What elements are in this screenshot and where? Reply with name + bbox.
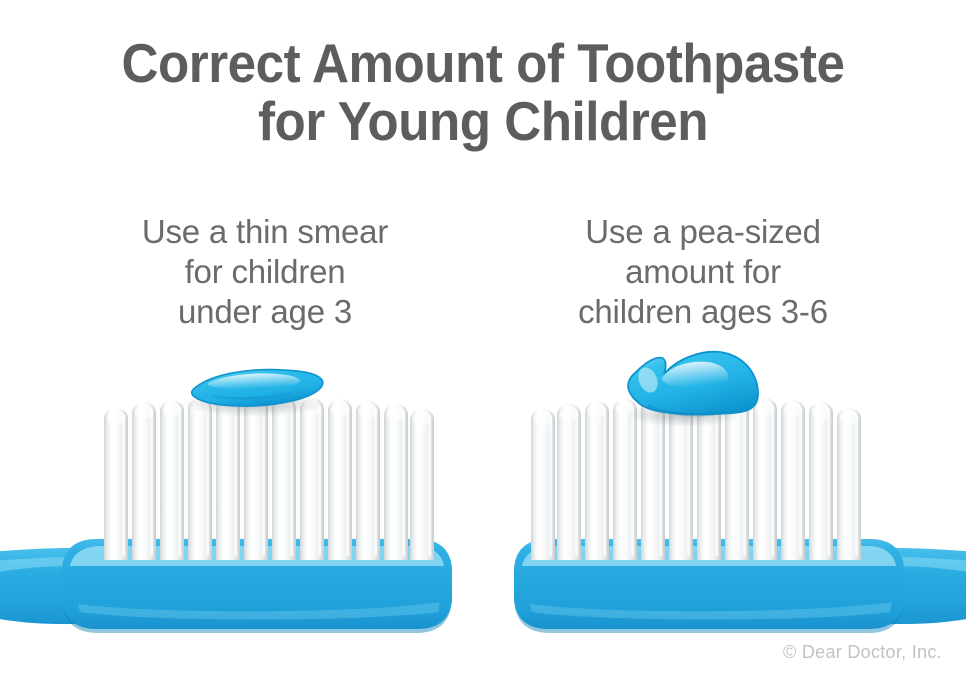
page-title: Correct Amount of Toothpaste for Young C… <box>34 34 932 150</box>
toothbrush-head-left <box>62 539 452 629</box>
copyright-notice: © Dear Doctor, Inc. <box>783 642 942 663</box>
toothpaste-smear-left <box>192 370 323 407</box>
head-sheen-left <box>78 602 440 620</box>
toothbrush-handle-right <box>666 548 966 624</box>
infographic-root: Correct Amount of Toothpaste for Young C… <box>0 0 966 685</box>
caption-ages-3-to-6: Use a pea-sized amount for children ages… <box>488 212 918 332</box>
head-highlight-right <box>522 546 896 566</box>
toothpaste-pea-right <box>628 352 758 417</box>
toothbrush-handle-left <box>0 548 300 624</box>
toothbrush-right <box>514 352 966 633</box>
head-shade-left <box>62 601 452 633</box>
toothpaste-shadow-left <box>181 391 325 417</box>
toothbrush-head-right <box>514 539 904 629</box>
handle-highlight-right <box>706 557 966 582</box>
toothbrush-left <box>0 370 452 633</box>
toothpaste-shadow-right <box>626 401 742 427</box>
handle-highlight-left <box>0 557 260 582</box>
head-shade-right <box>514 601 904 633</box>
head-highlight-left <box>70 546 444 566</box>
caption-under-age-3: Use a thin smear for children under age … <box>50 212 480 332</box>
head-sheen-right <box>530 602 892 620</box>
bristle-group-left <box>104 397 434 560</box>
bristle-group-right <box>531 397 861 560</box>
